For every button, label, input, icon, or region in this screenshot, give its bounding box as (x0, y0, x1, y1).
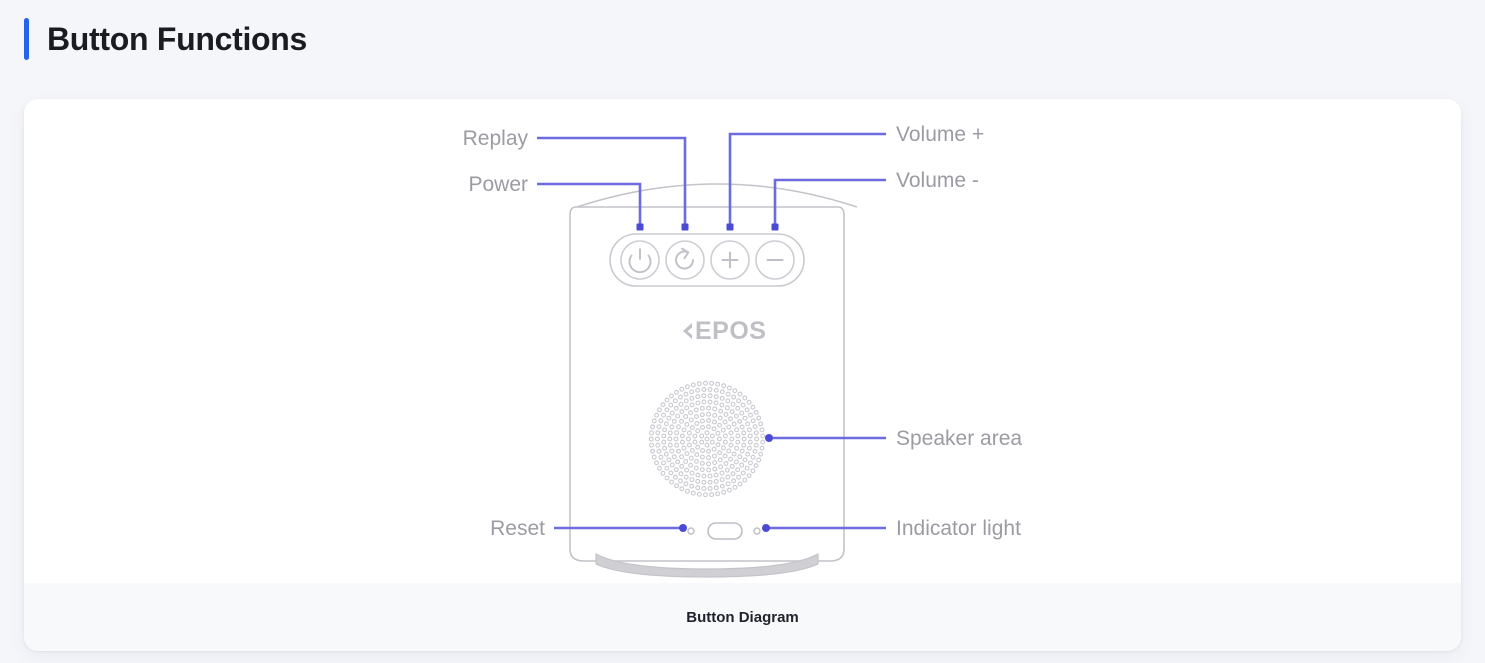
volume-up-button[interactable] (711, 241, 749, 279)
figure-caption: Button Diagram (686, 609, 799, 626)
callout-label-volume-down: Volume - (896, 169, 979, 192)
callout-label-replay: Replay (463, 127, 529, 150)
callout-label-power: Power (468, 173, 528, 196)
replay-button[interactable] (666, 241, 704, 279)
button-diagram-svg: EPOS (24, 99, 1461, 583)
button-functions-card: EPOS (24, 99, 1461, 651)
epos-brand-logo: EPOS (683, 317, 766, 345)
callout-label-speaker-area: Speaker area (896, 427, 1022, 450)
speaker-grille (646, 378, 768, 500)
epos-wordmark: EPOS (695, 317, 766, 345)
figure-caption-bar: Button Diagram (24, 583, 1461, 651)
volume-down-button[interactable] (756, 241, 794, 279)
callout-label-reset: Reset (490, 517, 545, 540)
usb-port (708, 523, 742, 539)
device-top-arc (577, 184, 857, 207)
callout-label-volume-up: Volume + (896, 123, 984, 146)
diagram-figure-area: EPOS (24, 99, 1461, 583)
title-accent-bar (24, 18, 29, 60)
page-header: Button Functions (24, 18, 307, 60)
button-pill-group (610, 234, 804, 286)
callout-label-indicator-light: Indicator light (896, 517, 1021, 540)
power-button[interactable] (621, 241, 659, 279)
page-title: Button Functions (47, 23, 307, 55)
